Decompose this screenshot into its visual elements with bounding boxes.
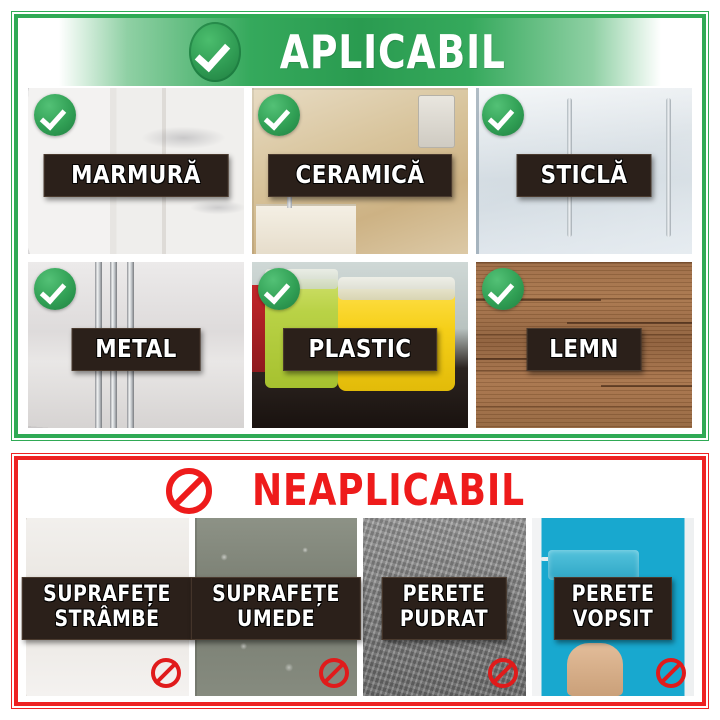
label-plate-marmura: MARMURĂ — [44, 154, 229, 197]
applicable-banner-title: APLICABIL — [280, 29, 506, 75]
applicable-section: APLICABIL MARMURĂ — [14, 14, 706, 438]
tile-perete-vopsit[interactable]: PERETE VOPSIT — [532, 518, 695, 696]
label-text-line2: VOPSIT — [571, 609, 654, 631]
prohibition-icon — [319, 658, 349, 688]
tile-suprafete-strambe[interactable]: SUPRAFEȚE STRÂMBE — [26, 518, 189, 696]
label-text-line1: PERETE — [571, 584, 654, 606]
tile-marmura[interactable]: MARMURĂ — [28, 88, 244, 254]
prohibition-icon — [151, 658, 181, 688]
prohibition-icon — [166, 468, 212, 514]
check-circle-icon — [258, 94, 300, 136]
not-applicable-section: NEAPLICABIL SUPRAFEȚE STRÂMBE — [14, 456, 706, 706]
applicable-grid: MARMURĂ CERAMICĂ — [28, 88, 692, 428]
applicable-banner: APLICABIL — [18, 18, 702, 86]
label-text: STICLĂ — [541, 162, 628, 187]
not-applicable-banner: NEAPLICABIL — [18, 460, 702, 522]
infographic-poster: APLICABIL MARMURĂ — [0, 0, 720, 720]
prohibition-icon — [656, 658, 686, 688]
check-circle-icon — [189, 22, 241, 82]
label-text: LEMN — [549, 336, 618, 361]
tile-ceramica[interactable]: CERAMICĂ — [252, 88, 468, 254]
label-text: METAL — [95, 336, 177, 361]
tile-suprafete-umede[interactable]: SUPRAFEȚE UMEDE — [195, 518, 358, 696]
label-text: PLASTIC — [308, 336, 411, 361]
check-circle-icon — [258, 268, 300, 310]
tile-lemn[interactable]: LEMN — [476, 262, 692, 428]
label-text: CERAMICĂ — [296, 162, 425, 187]
label-plate-ceramica: CERAMICĂ — [268, 154, 452, 197]
label-plate-metal: METAL — [72, 328, 201, 371]
label-text-line1: SUPRAFEȚE — [212, 584, 340, 606]
check-circle-icon — [34, 268, 76, 310]
label-plate-plastic: PLASTIC — [283, 328, 437, 371]
label-text-line2: PUDRAT — [400, 609, 488, 631]
label-plate-sticla: STICLĂ — [517, 154, 652, 197]
check-circle-icon — [482, 268, 524, 310]
label-plate-lemn: LEMN — [527, 328, 642, 371]
check-circle-icon — [482, 94, 524, 136]
tile-sticla[interactable]: STICLĂ — [476, 88, 692, 254]
tile-metal[interactable]: METAL — [28, 262, 244, 428]
label-text-line2: STRÂMBE — [43, 609, 171, 631]
not-applicable-banner-title: NEAPLICABIL — [252, 469, 525, 513]
tile-plastic[interactable]: PLASTIC — [252, 262, 468, 428]
not-applicable-grid: SUPRAFEȚE STRÂMBE SUPRAFEȚE UMEDE — [26, 518, 694, 696]
label-text: MARMURĂ — [71, 162, 201, 187]
label-text-line1: PERETE — [400, 584, 488, 606]
label-plate-suprafete-umede: SUPRAFEȚE UMEDE — [191, 577, 361, 640]
check-circle-icon — [34, 94, 76, 136]
label-text-line1: SUPRAFEȚE — [43, 584, 171, 606]
label-text-line2: UMEDE — [212, 609, 340, 631]
label-plate-suprafete-strambe: SUPRAFEȚE STRÂMBE — [22, 577, 192, 640]
prohibition-icon — [488, 658, 518, 688]
label-plate-perete-vopsit: PERETE VOPSIT — [554, 577, 672, 640]
label-plate-perete-pudrat: PERETE PUDRAT — [382, 577, 507, 640]
tile-perete-pudrat[interactable]: PERETE PUDRAT — [363, 518, 526, 696]
